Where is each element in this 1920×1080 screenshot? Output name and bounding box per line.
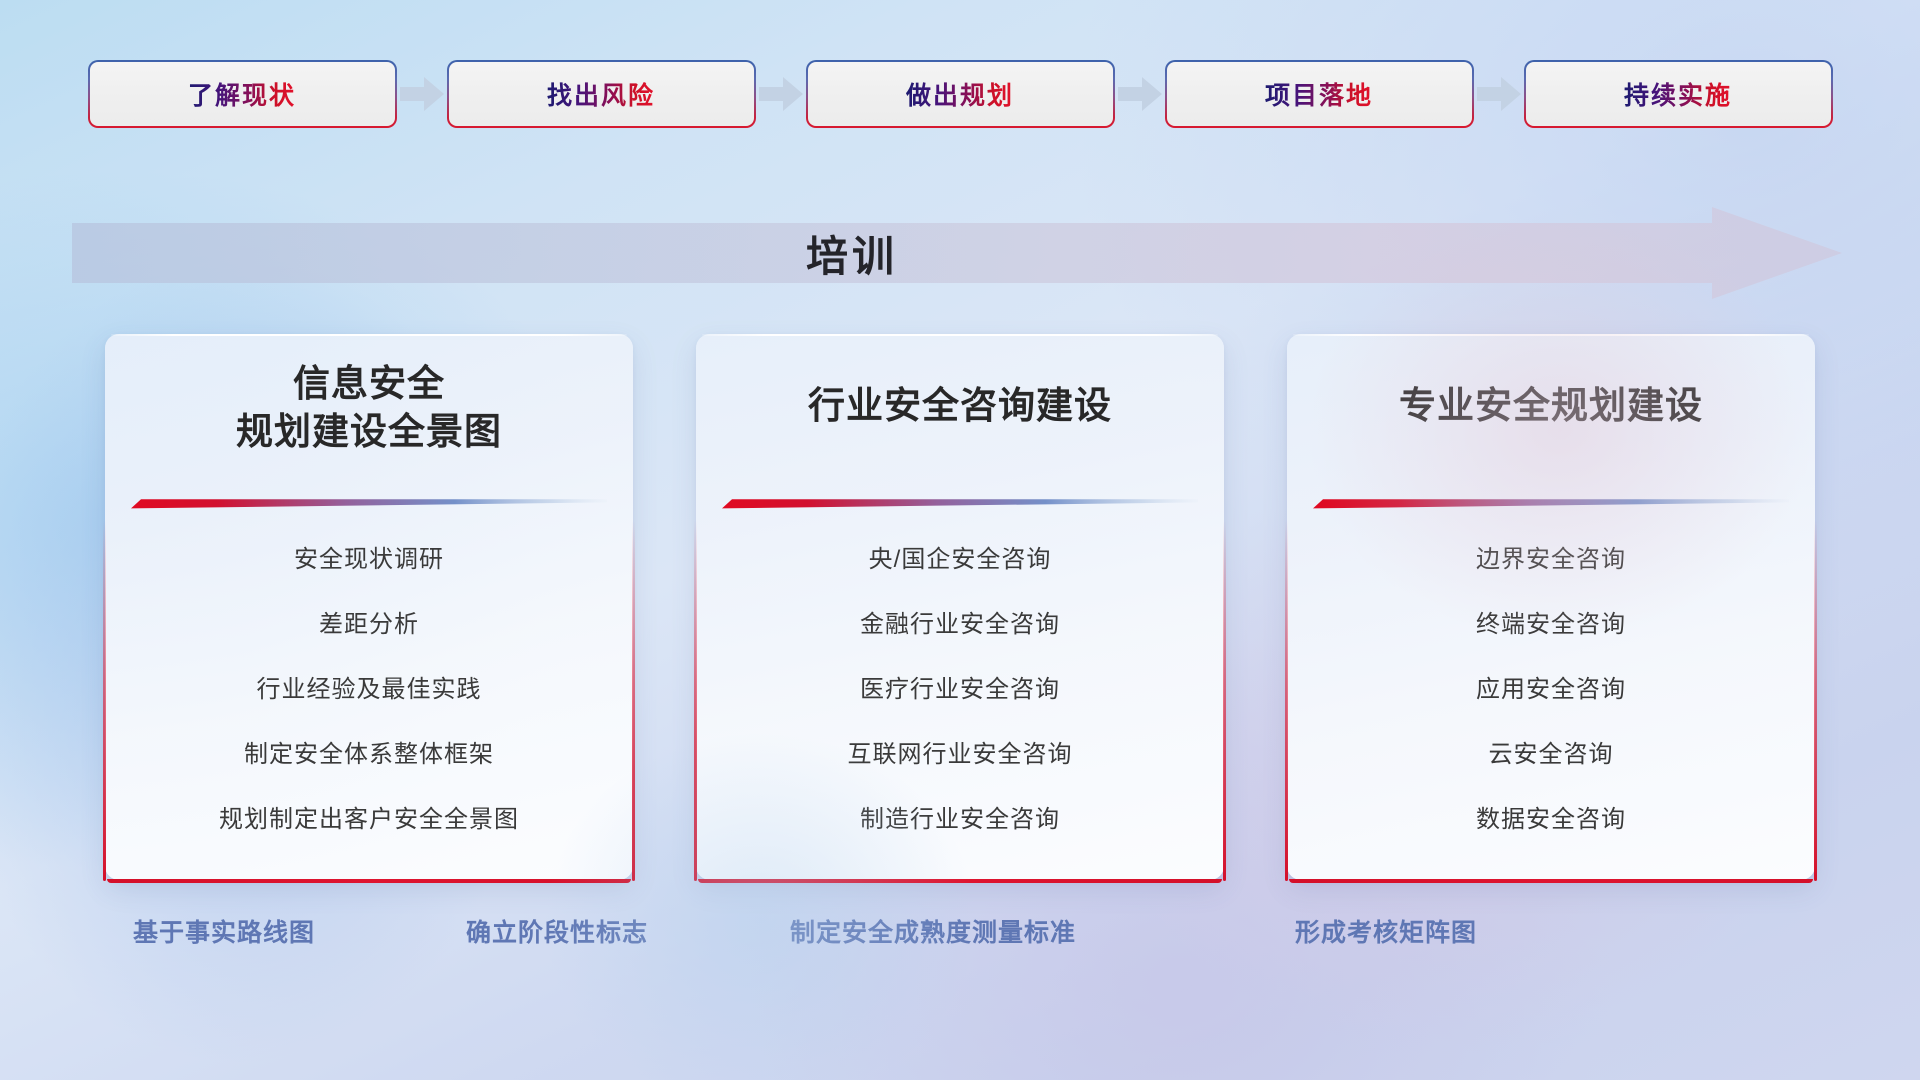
card-top-highlight: [702, 334, 1218, 336]
outcome-label: 形成考核矩阵图: [1295, 913, 1477, 949]
process-step-label: 找出风险: [547, 76, 655, 112]
list-item: 央/国企安全咨询: [696, 548, 1224, 572]
list-item: 制定安全体系整体框架: [105, 743, 633, 767]
card-professional-security-planning[interactable]: 专业安全规划建设: [1287, 334, 1815, 880]
card-title: 行业安全咨询建设: [696, 382, 1224, 430]
list-item: 医疗行业安全咨询: [696, 678, 1224, 702]
slide-canvas: 了解现状 找出风险 做出规划 项目落地: [0, 0, 1920, 1080]
process-step-label: 持续实施: [1624, 76, 1732, 112]
process-step-row: 了解现状 找出风险 做出规划 项目落地: [0, 62, 1920, 126]
list-item: 互联网行业安全咨询: [696, 743, 1224, 767]
card-divider-icon: [1313, 496, 1789, 509]
list-item: 安全现状调研: [105, 548, 633, 572]
card-item-list: 边界安全咨询 终端安全咨询 应用安全咨询 云安全咨询 数据安全咨询: [1287, 548, 1815, 832]
list-item: 制造行业安全咨询: [696, 808, 1224, 832]
list-item: 应用安全咨询: [1287, 678, 1815, 702]
list-item: 边界安全咨询: [1287, 548, 1815, 572]
list-item: 数据安全咨询: [1287, 808, 1815, 832]
card-row: 信息安全 规划建设全景图: [0, 334, 1920, 880]
list-item: 云安全咨询: [1287, 743, 1815, 767]
card-top-highlight: [111, 334, 627, 336]
card-bottom-edge: [698, 879, 1222, 883]
card-bottom-edge: [1289, 879, 1813, 883]
process-step-label: 了解现状: [188, 76, 296, 112]
arrow-right-icon: [395, 74, 449, 114]
arrow-right-icon: [754, 74, 808, 114]
card-item-list: 安全现状调研 差距分析 行业经验及最佳实践 制定安全体系整体框架 规划制定出客户…: [105, 548, 633, 832]
card-title: 专业安全规划建设: [1287, 382, 1815, 430]
process-step-4[interactable]: 项目落地: [1167, 62, 1472, 126]
list-item: 行业经验及最佳实践: [105, 678, 633, 702]
card-item-list: 央/国企安全咨询 金融行业安全咨询 医疗行业安全咨询 互联网行业安全咨询 制造行…: [696, 548, 1224, 832]
outcome-label: 制定安全成熟度测量标准: [790, 913, 1076, 949]
card-divider-icon: [722, 496, 1198, 509]
process-step-label: 项目落地: [1265, 76, 1373, 112]
card-information-security-blueprint[interactable]: 信息安全 规划建设全景图: [105, 334, 633, 880]
process-step-1[interactable]: 了解现状: [90, 62, 395, 126]
card-industry-security-consulting[interactable]: 行业安全咨询建设: [696, 334, 1224, 880]
process-step-2[interactable]: 找出风险: [449, 62, 754, 126]
banner-title: 培训: [72, 207, 1632, 299]
training-banner: 培训: [72, 207, 1842, 299]
outcome-label: 基于事实路线图: [133, 913, 315, 949]
arrow-right-icon: [1113, 74, 1167, 114]
process-step-label: 做出规划: [906, 76, 1014, 112]
list-item: 差距分析: [105, 613, 633, 637]
card-divider-icon: [131, 496, 607, 509]
card-top-highlight: [1293, 334, 1809, 336]
arrow-right-icon: [1472, 74, 1526, 114]
list-item: 金融行业安全咨询: [696, 613, 1224, 637]
card-title: 信息安全 规划建设全景图: [105, 360, 633, 456]
outcome-label: 确立阶段性标志: [466, 913, 648, 949]
outcome-label-row: 基于事实路线图 确立阶段性标志 制定安全成熟度测量标准 形成考核矩阵图: [0, 913, 1920, 959]
process-step-3[interactable]: 做出规划: [808, 62, 1113, 126]
card-bottom-edge: [107, 879, 631, 883]
list-item: 终端安全咨询: [1287, 613, 1815, 637]
process-step-5[interactable]: 持续实施: [1526, 62, 1831, 126]
list-item: 规划制定出客户安全全景图: [105, 808, 633, 832]
